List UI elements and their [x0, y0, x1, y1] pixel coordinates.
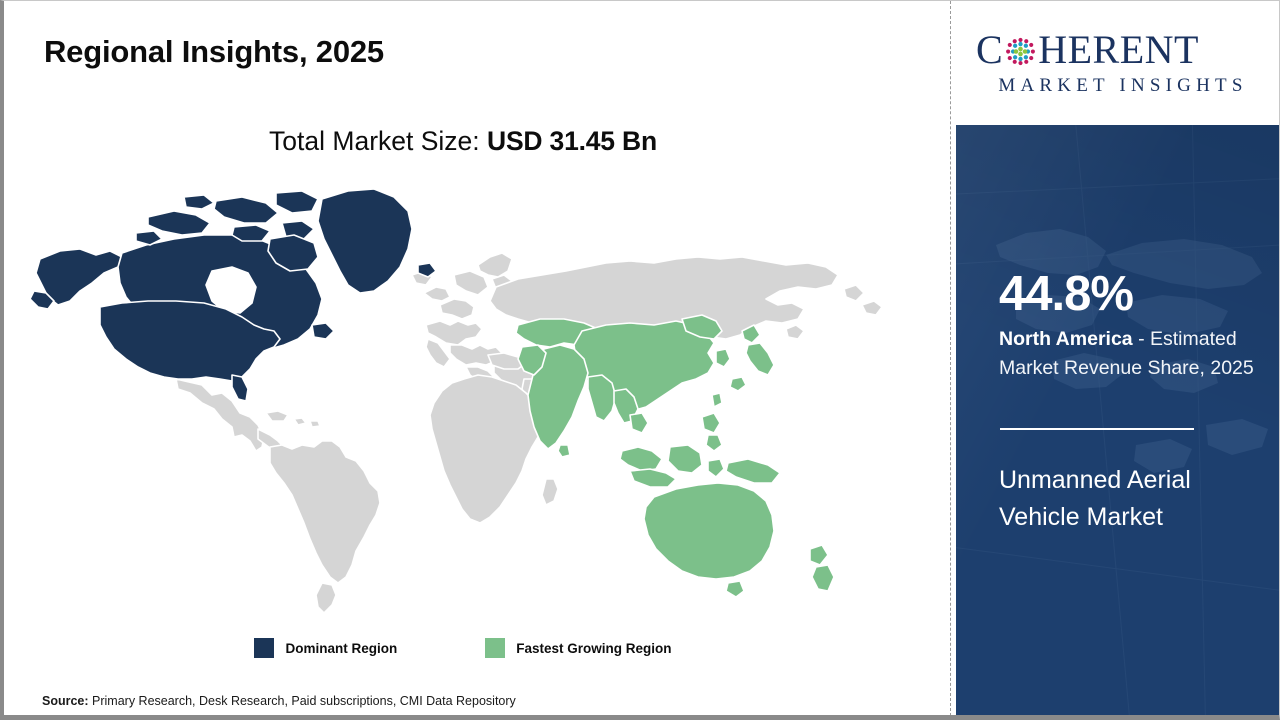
legend-label-fastest-growing: Fastest Growing Region	[516, 641, 671, 656]
page-title: Regional Insights, 2025	[44, 34, 384, 70]
total-market-size-label: Total Market Size:	[269, 126, 487, 156]
brand-header: C	[956, 1, 1280, 125]
logo-tagline: MARKET INSIGHTS	[976, 75, 1270, 97]
legend-swatch-fastest-growing	[485, 638, 505, 658]
source-note: Source: Primary Research, Desk Research,…	[42, 694, 516, 708]
legend-item-fastest-growing-region: Fastest Growing Region	[485, 638, 671, 658]
stat-value: 44.8%	[999, 270, 1133, 319]
total-market-size: Total Market Size: USD 31.45 Bn	[4, 126, 922, 157]
map-legend: Dominant Region Fastest Growing Region	[4, 638, 922, 658]
regional-stat-panel: 44.8% North America - Estimated Market R…	[956, 125, 1280, 716]
stat-caption: North America - Estimated Market Revenue…	[999, 325, 1264, 383]
vertical-dashed-divider	[950, 1, 951, 716]
logo-wordmark: C	[976, 30, 1270, 70]
market-name: Unmanned Aerial Vehicle Market	[999, 462, 1254, 536]
legend-swatch-dominant	[254, 638, 274, 658]
left-content-pane: Regional Insights, 2025 Total Market Siz…	[4, 1, 952, 716]
world-map	[26, 179, 906, 619]
logo-word-herent: HERENT	[1038, 30, 1199, 70]
total-market-size-value: USD 31.45 Bn	[487, 126, 657, 156]
legend-item-dominant-region: Dominant Region	[254, 638, 397, 658]
map-region-asia-pacific	[516, 315, 834, 597]
logo-word-c: C	[976, 30, 1003, 70]
dotted-globe-icon	[1004, 35, 1037, 68]
stat-panel-content: 44.8% North America - Estimated Market R…	[999, 125, 1267, 716]
regional-insights-infographic: Regional Insights, 2025 Total Market Siz…	[0, 0, 1280, 720]
map-region-north-america	[30, 189, 436, 401]
source-text: Primary Research, Desk Research, Paid su…	[89, 694, 516, 708]
source-label: Source:	[42, 694, 89, 708]
coherent-market-insights-logo: C	[970, 30, 1270, 97]
legend-label-dominant: Dominant Region	[285, 641, 397, 656]
stat-divider-rule	[1000, 428, 1194, 430]
stat-region-name: North America	[999, 328, 1133, 350]
